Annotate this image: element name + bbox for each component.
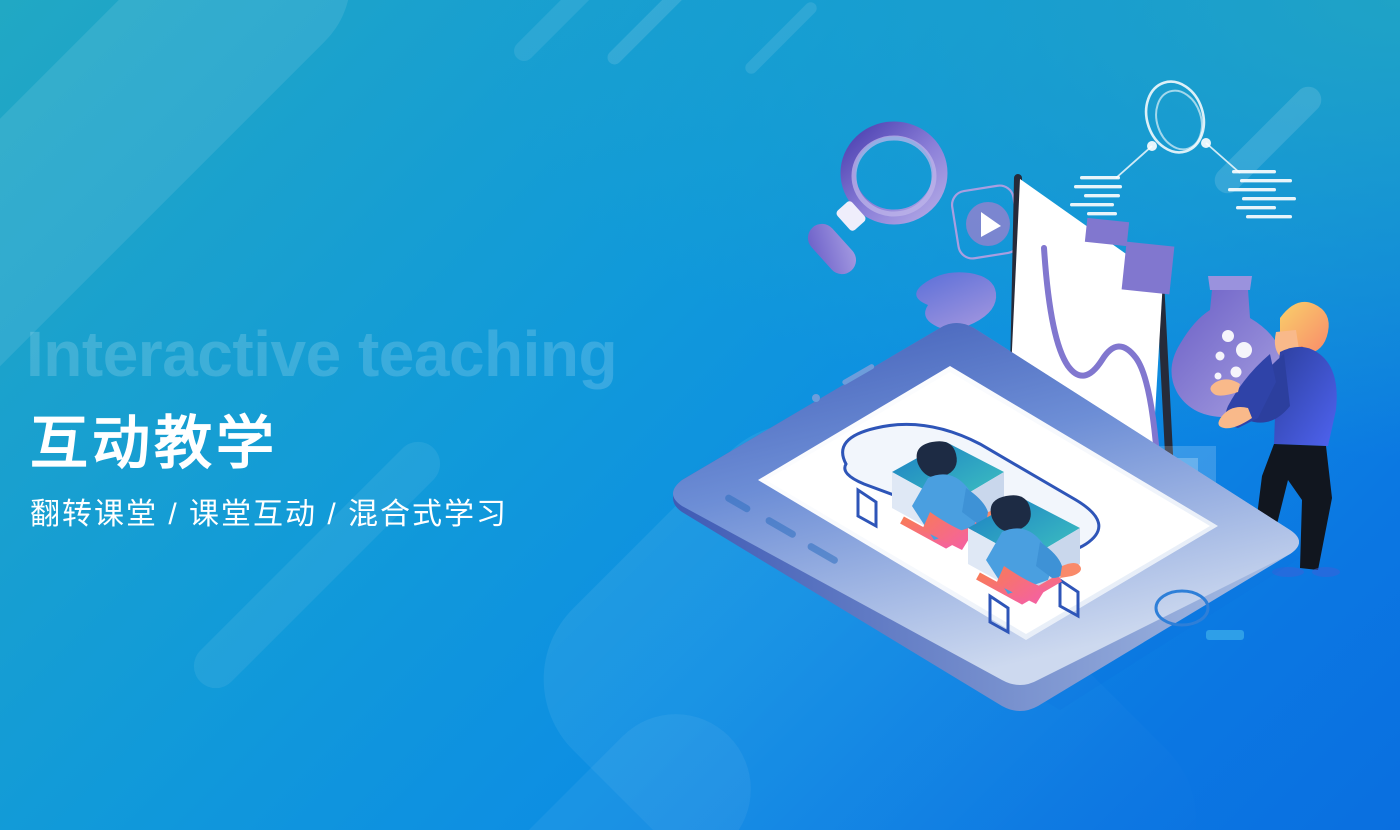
hero-banner: Interactive teaching 互动教学 翻转课堂 / 课堂互动 / … <box>0 0 1400 830</box>
page-subtitle: 翻转课堂 / 课堂互动 / 混合式学习 <box>30 497 508 533</box>
front-camera-icon <box>812 394 820 402</box>
magnifier-icon <box>802 129 940 280</box>
decor-capsule-large <box>0 0 387 474</box>
decor-capsule-thin-b <box>605 0 700 67</box>
video-play-icon <box>950 184 1022 261</box>
ghost-headline: Interactive teaching <box>26 322 617 386</box>
hero-illustration <box>640 60 1400 820</box>
idea-ring-icon <box>1070 74 1296 218</box>
page-title: 互动教学 <box>30 412 278 476</box>
side-indicator <box>1206 630 1244 640</box>
